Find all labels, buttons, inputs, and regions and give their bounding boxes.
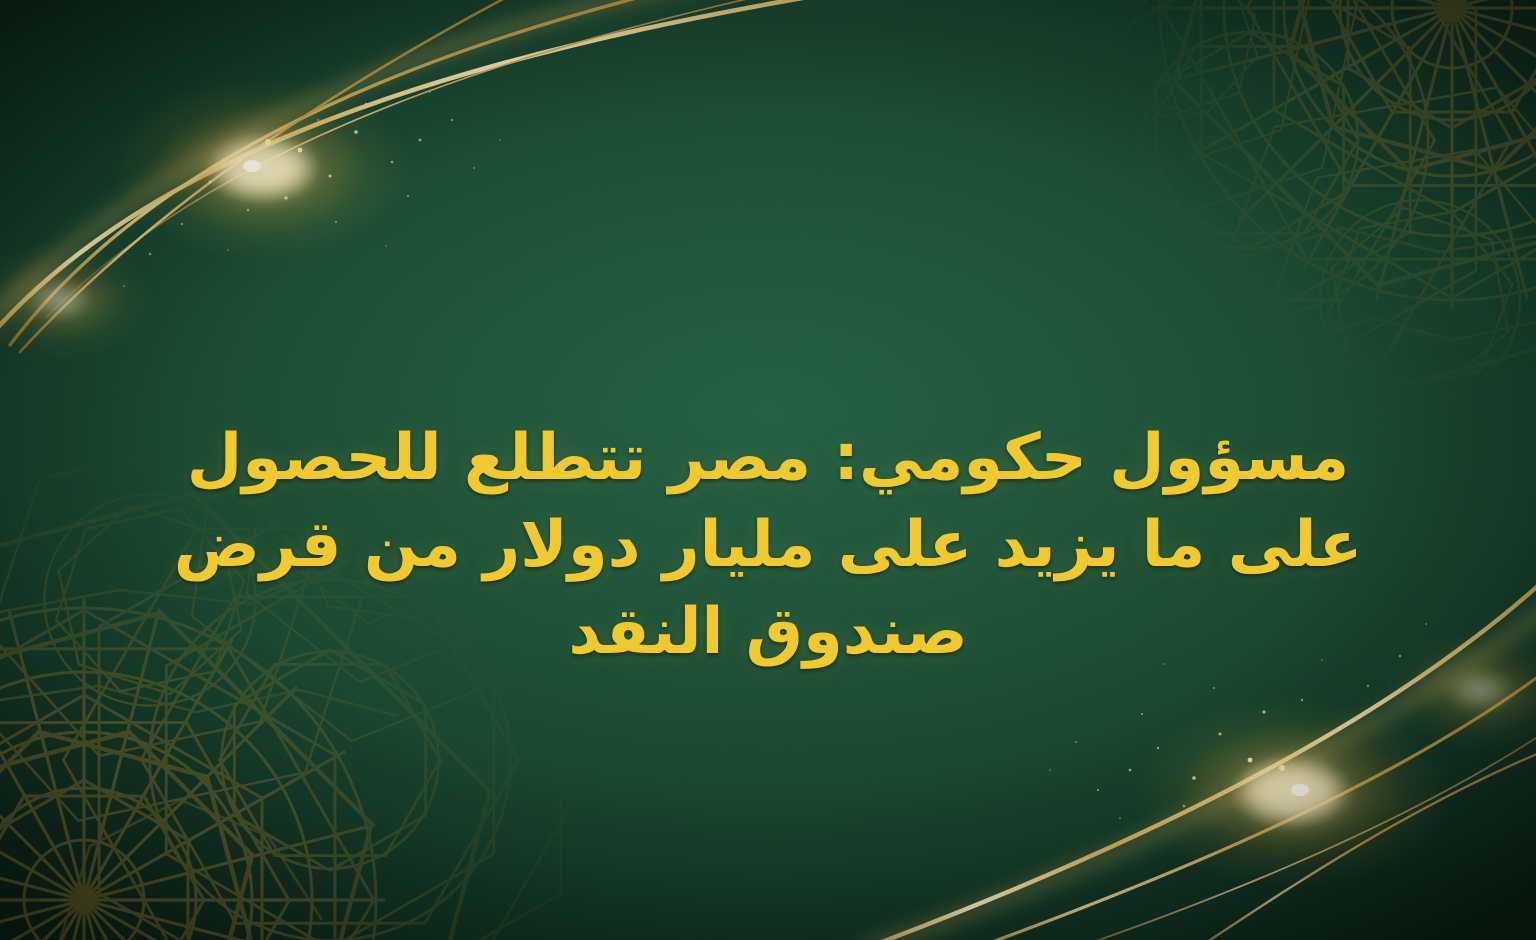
headline-text: مسؤول حكومي: مصر تتطلع للحصول على ما يزي… xyxy=(0,415,1536,676)
sparkle-field-top-left xyxy=(123,91,501,287)
gold-swoosh-top-left xyxy=(0,0,1060,360)
news-card: مسؤول حكومي: مصر تتطلع للحصول على ما يزي… xyxy=(0,0,1536,940)
